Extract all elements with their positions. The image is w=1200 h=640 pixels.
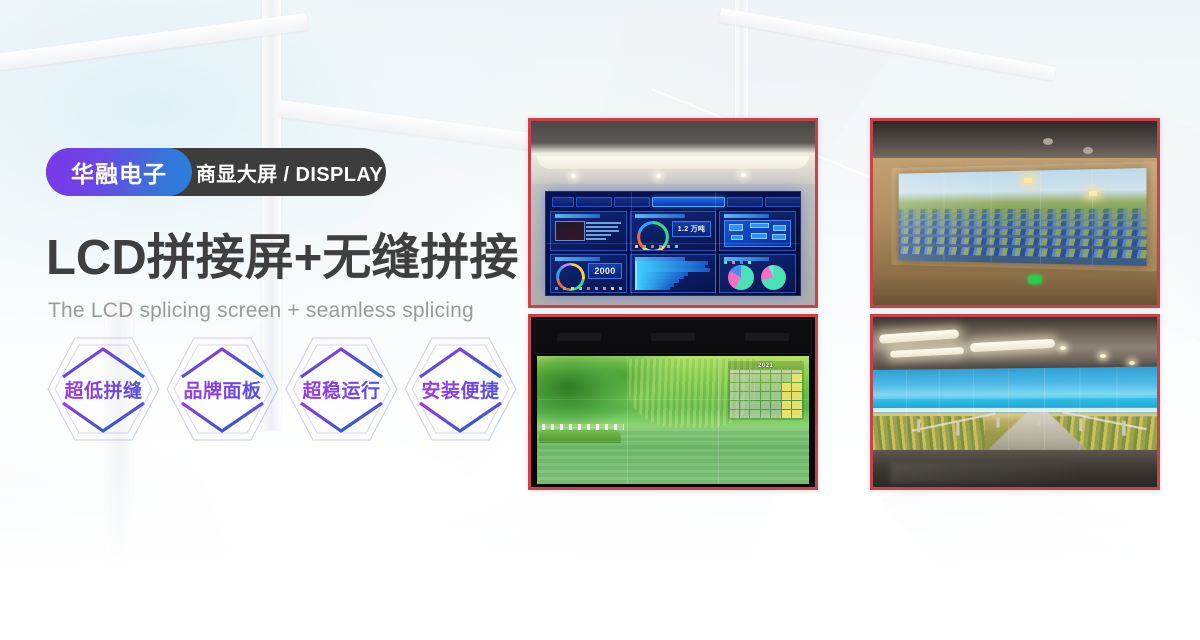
feature-label: 品牌面板 — [165, 333, 280, 445]
feature-label: 超稳运行 — [284, 333, 399, 445]
photo-solar-wall[interactable] — [870, 118, 1160, 308]
page-title: LCD拼接屏+无缝拼接 — [46, 232, 518, 285]
feature-item-3: 安装便捷 — [403, 333, 518, 445]
feature-label: 安装便捷 — [403, 333, 518, 445]
dashboard-screen: 1.2 万吨 — [545, 191, 801, 296]
banner-content: 商显大屏 / DISPLAY 华融电子 LCD拼接屏+无缝拼接 The LCD … — [46, 0, 546, 640]
badge-company-pill: 华融电子 — [46, 148, 192, 196]
badge-category-label: 商显大屏 / DISPLAY — [196, 148, 383, 196]
feature-item-1: 品牌面板 — [165, 333, 280, 445]
ceiling-beam — [719, 8, 1056, 81]
feature-label: 超低拼缝 — [46, 333, 161, 445]
calendar-overlay: 2021 — [728, 361, 804, 420]
calendar-year: 2021 — [730, 363, 802, 369]
dashboard-kpi-secondary: 2000 — [588, 263, 622, 279]
feature-item-2: 超稳运行 — [284, 333, 399, 445]
feature-item-0: 超低拼缝 — [46, 333, 161, 445]
photo-beach-wall[interactable] — [870, 314, 1160, 490]
photo-gallery: 1.2 万吨 — [528, 118, 1168, 490]
feature-list: 超低拼缝 品牌面板 超稳运行 — [46, 333, 518, 445]
photo-pond-wall[interactable]: 2021 — [528, 314, 818, 490]
beach-scene-screen — [873, 366, 1157, 455]
dashboard-kpi-primary: 1.2 万吨 — [672, 221, 711, 237]
pond-scene-screen: 2021 — [537, 356, 810, 484]
product-banner: 商显大屏 / DISPLAY 华融电子 LCD拼接屏+无缝拼接 The LCD … — [0, 0, 1200, 640]
background-edge — [903, 489, 1197, 553]
page-subtitle: The LCD splicing screen + seamless splic… — [48, 299, 474, 323]
photo-dashboard-wall[interactable]: 1.2 万吨 — [528, 118, 818, 308]
